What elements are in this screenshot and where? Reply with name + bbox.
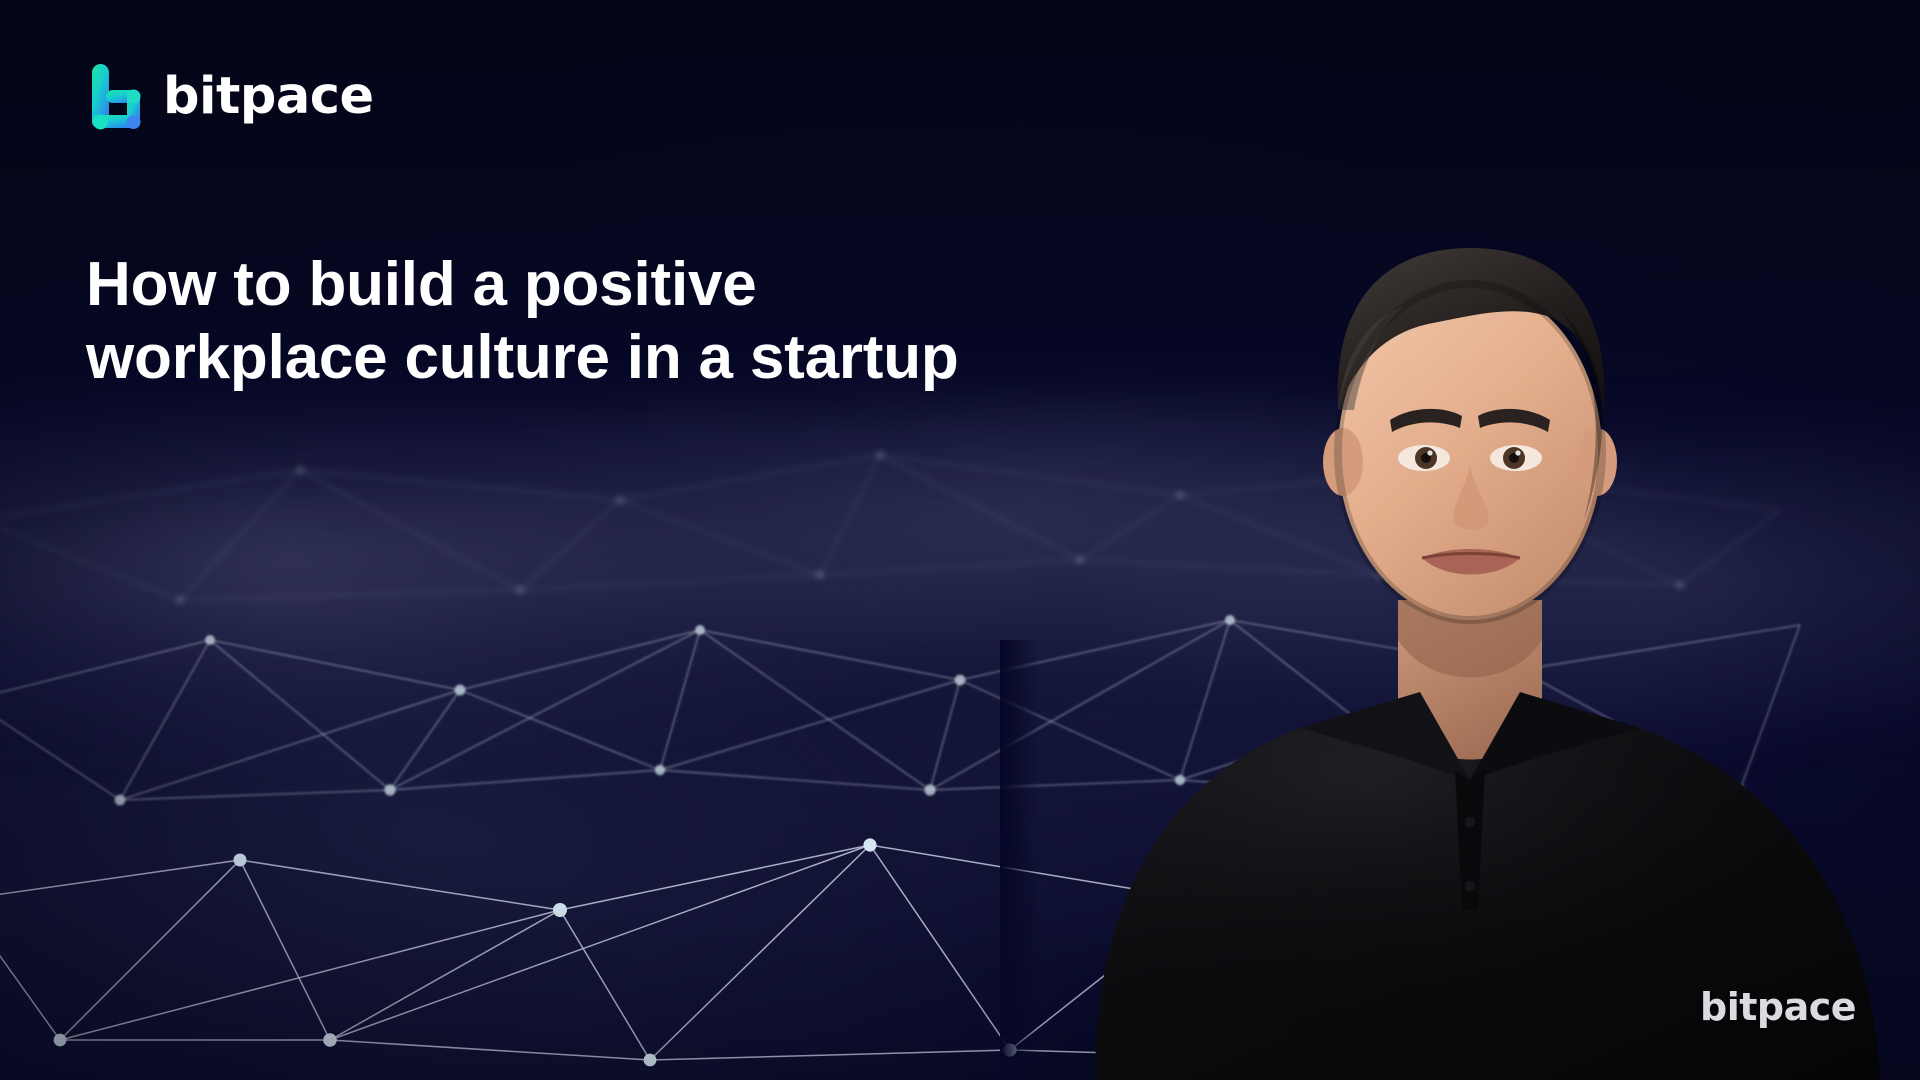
page-title: How to build a positive workplace cultur… <box>86 248 1046 394</box>
brand-wordmark: bitpace <box>163 71 374 122</box>
headline-line-1: How to build a positive <box>86 248 1046 321</box>
background-gradient <box>0 0 1920 1080</box>
banner-canvas: bitpace How to build a positive workplac… <box>0 0 1920 1080</box>
bitpace-logo-mark-icon <box>84 62 146 130</box>
brand-logo[interactable]: bitpace <box>84 62 374 130</box>
headline-line-2: workplace culture in a startup <box>86 321 1046 394</box>
